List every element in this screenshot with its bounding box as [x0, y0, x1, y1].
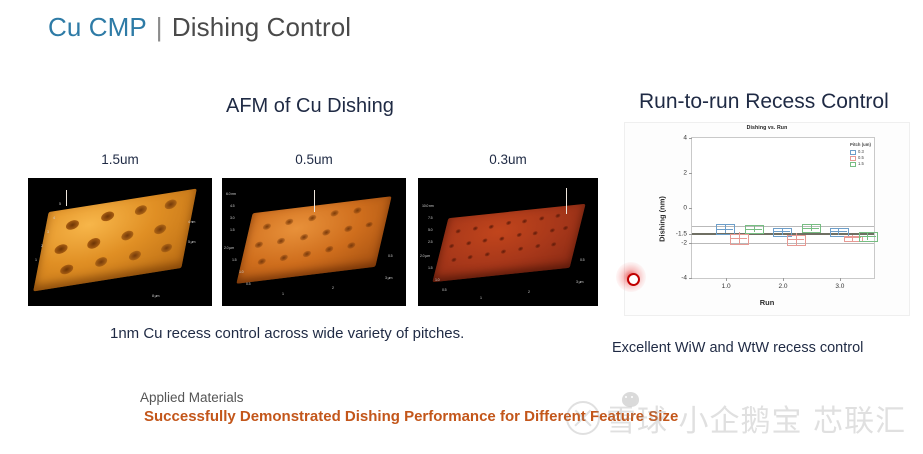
chart-y-tick-label: -1.5 [676, 231, 687, 238]
run-caption: Excellent WiW and WtW recess control [612, 340, 863, 356]
afm1-ytick-4: 4 [53, 216, 55, 220]
chart-legend-label: 1.5 [858, 161, 864, 167]
afm-image-0_3um: 10.0 nm 7.5 5.0 2.5 2.0 µm 1.5 1.0 0.5 1… [418, 178, 598, 306]
chart-box-median [716, 229, 733, 230]
afm-image-1_5um: 5 4 3 2 1 4 nm 5 µm 8 µm [28, 178, 212, 306]
chart-box-median [859, 236, 876, 237]
chart-x-tick-label: 2.0 [778, 283, 787, 290]
chart-box-median [730, 238, 747, 239]
afm2-ztick-2: 3.0 [230, 216, 234, 220]
afm1-ytick-2: 2 [41, 244, 43, 248]
chart-title: Dishing vs. Run [625, 125, 909, 131]
afm2-xtick-2: 2 [332, 286, 334, 290]
chart-legend-swatch [850, 162, 856, 167]
afm2-ytick-2: 1.0 [239, 270, 243, 274]
page-title-rest: Dishing Control [172, 12, 351, 42]
afm-surface-3: 10.0 nm 7.5 5.0 2.5 2.0 µm 1.5 1.0 0.5 1… [418, 178, 598, 306]
afm-image-0_5um: 6.0 nm 4.5 3.0 1.5 2.0 µm 1.5 1.0 0.5 1 … [222, 178, 406, 306]
watermark-badge-icon [622, 392, 639, 407]
chart-y-tick-label: -4 [681, 275, 687, 282]
chart-box-median [830, 231, 847, 232]
page-title-separator: | [154, 12, 165, 42]
chart-y-tick-mark [689, 234, 692, 235]
chart-x-tick-label: 3.0 [835, 283, 844, 290]
afm3-ztick-2: 5.0 [428, 228, 432, 232]
chart-legend-title: Pitch (um) [850, 142, 871, 148]
chart-box [730, 234, 749, 245]
afm2-x-label: 3 µm [385, 276, 392, 280]
afm-section-heading: AFM of Cu Dishing [226, 95, 394, 118]
afm1-z-unit: 4 nm [188, 220, 195, 224]
afm2-y-label: 2.0 µm [224, 246, 234, 250]
afm3-xtick-1: 1 [480, 296, 482, 300]
afm-surface-2: 6.0 nm 4.5 3.0 1.5 2.0 µm 1.5 1.0 0.5 1 … [222, 178, 406, 306]
chart-x-tick-mark [783, 278, 784, 281]
afm2-ztick-1: 4.5 [230, 204, 234, 208]
chart-box [745, 225, 764, 234]
chart-y-tick-mark [689, 138, 692, 139]
afm3-ztick-3: 2.5 [428, 240, 432, 244]
chart-y-tick-label: -2 [681, 240, 687, 247]
afm3-ytick-2: 1.0 [435, 278, 439, 282]
run-section-heading: Run-to-run Recess Control [639, 90, 889, 114]
chart-legend-swatch [850, 156, 856, 161]
slide: Cu CMP | Dishing Control AFM of Cu Dishi… [0, 0, 923, 454]
afm2-x-end: 0.5 [388, 254, 392, 258]
page-title: Cu CMP | Dishing Control [48, 12, 351, 43]
chart-y-tick-mark [689, 208, 692, 209]
chart-legend-entry[interactable]: 1.5 [850, 161, 871, 167]
afm-surface-1: 5 4 3 2 1 4 nm 5 µm 8 µm [28, 178, 212, 306]
chart-box-median [787, 239, 804, 240]
chart-legend: Pitch (um) 0.30.51.5 [850, 142, 871, 167]
chart-y-tick-mark [689, 278, 692, 279]
chart-y-tick-label: 0 [683, 205, 687, 212]
chart-reference-line [692, 243, 874, 244]
chart-box [787, 235, 806, 246]
chart-box-median [773, 231, 790, 232]
afm2-xtick-1: 1 [282, 292, 284, 296]
afm1-y-unit: 5 µm [188, 240, 195, 244]
chart-y-tick-mark [689, 173, 692, 174]
afm3-xtick-2: 2 [528, 290, 530, 294]
afm-panel-label-1: 1.5um [28, 152, 212, 167]
chart-x-tick-mark [726, 278, 727, 281]
chart-legend-swatch [850, 150, 856, 155]
chart-x-axis-label: Run [625, 298, 909, 307]
dishing-vs-run-chart: Dishing vs. Run Dishing (nm) Run Pitch (… [624, 122, 910, 316]
cursor-marker [616, 262, 646, 292]
afm-dishing-dots-1 [33, 189, 197, 292]
afm2-ztick-3: 1.5 [230, 228, 234, 232]
chart-y-tick-label: 2 [683, 170, 687, 177]
chart-y-tick-mark [689, 243, 692, 244]
afm2-ytick-3: 0.5 [246, 282, 250, 286]
afm3-y-label: 2.0 µm [420, 254, 430, 258]
cursor-ring [627, 273, 640, 286]
afm-caption: 1nm Cu recess control across wide variet… [110, 325, 464, 342]
afm2-z-label: 6.0 nm [226, 192, 236, 196]
chart-box-median [802, 228, 819, 229]
chart-x-tick-mark [840, 278, 841, 281]
afm1-ytick-1: 1 [35, 258, 37, 262]
afm-panel-label-3: 0.3um [418, 152, 598, 167]
afm2-ytick-1: 1.5 [232, 258, 236, 262]
chart-y-tick-label: 4 [683, 135, 687, 142]
afm1-ytick-3: 3 [47, 230, 49, 234]
chart-legend-entries: 0.30.51.5 [850, 149, 871, 167]
footer-tagline: Successfully Demonstrated Dishing Perfor… [144, 408, 678, 425]
chart-x-tick-label: 1.0 [722, 283, 731, 290]
afm3-x-label: 3 µm [576, 280, 583, 284]
afm3-x-end: 0.5 [580, 258, 584, 262]
afm1-x-unit: 8 µm [152, 294, 159, 298]
afm1-ytick-5: 5 [59, 202, 61, 206]
afm3-ytick-1: 1.5 [428, 266, 432, 270]
afm-panel-label-2: 0.5um [222, 152, 406, 167]
company-brand: Applied Materials [140, 390, 244, 405]
chart-box-median [745, 229, 762, 230]
chart-y-axis-label: Dishing (nm) [657, 196, 666, 242]
afm3-z-label: 10.0 nm [422, 204, 434, 208]
afm-dishing-dots-3 [432, 204, 585, 282]
page-title-accent: Cu CMP [48, 12, 146, 42]
chart-plot-area: Pitch (um) 0.30.51.5 420-1.5-2-41.02.03.… [691, 137, 875, 279]
afm3-ztick-1: 7.5 [428, 216, 432, 220]
afm3-ytick-3: 0.5 [442, 288, 446, 292]
